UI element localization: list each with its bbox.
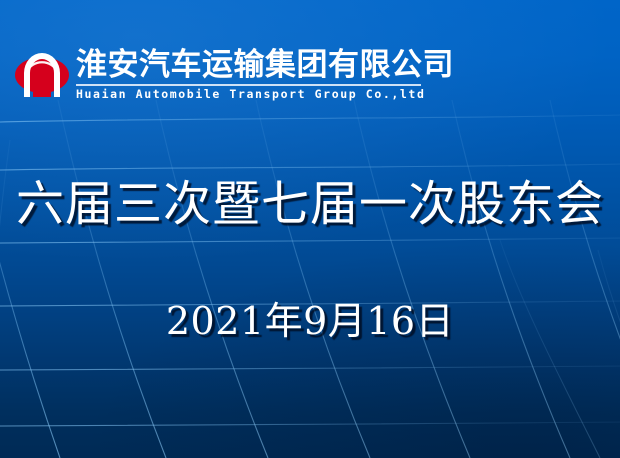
logo-divider-rule — [76, 84, 421, 86]
company-name-group: 淮安汽车运输集团有限公司 Huaian Automobile Transport… — [76, 47, 454, 101]
meridian-lines — [0, 100, 620, 458]
slide-main-title: 六届三次暨七届一次股东会 — [0, 178, 620, 232]
company-name-english: Huaian Automobile Transport Group Co.,lt… — [76, 87, 421, 101]
slide-date: 2021年9月16日 — [0, 300, 620, 344]
latitude-lines — [0, 115, 620, 426]
huaian-transport-arch-logo-icon — [14, 51, 70, 97]
presentation-title-slide: 淮安汽车运输集团有限公司 Huaian Automobile Transport… — [0, 0, 620, 458]
company-logo-lockup: 淮安汽车运输集团有限公司 Huaian Automobile Transport… — [14, 47, 454, 101]
company-name-chinese: 淮安汽车运输集团有限公司 — [76, 49, 454, 82]
